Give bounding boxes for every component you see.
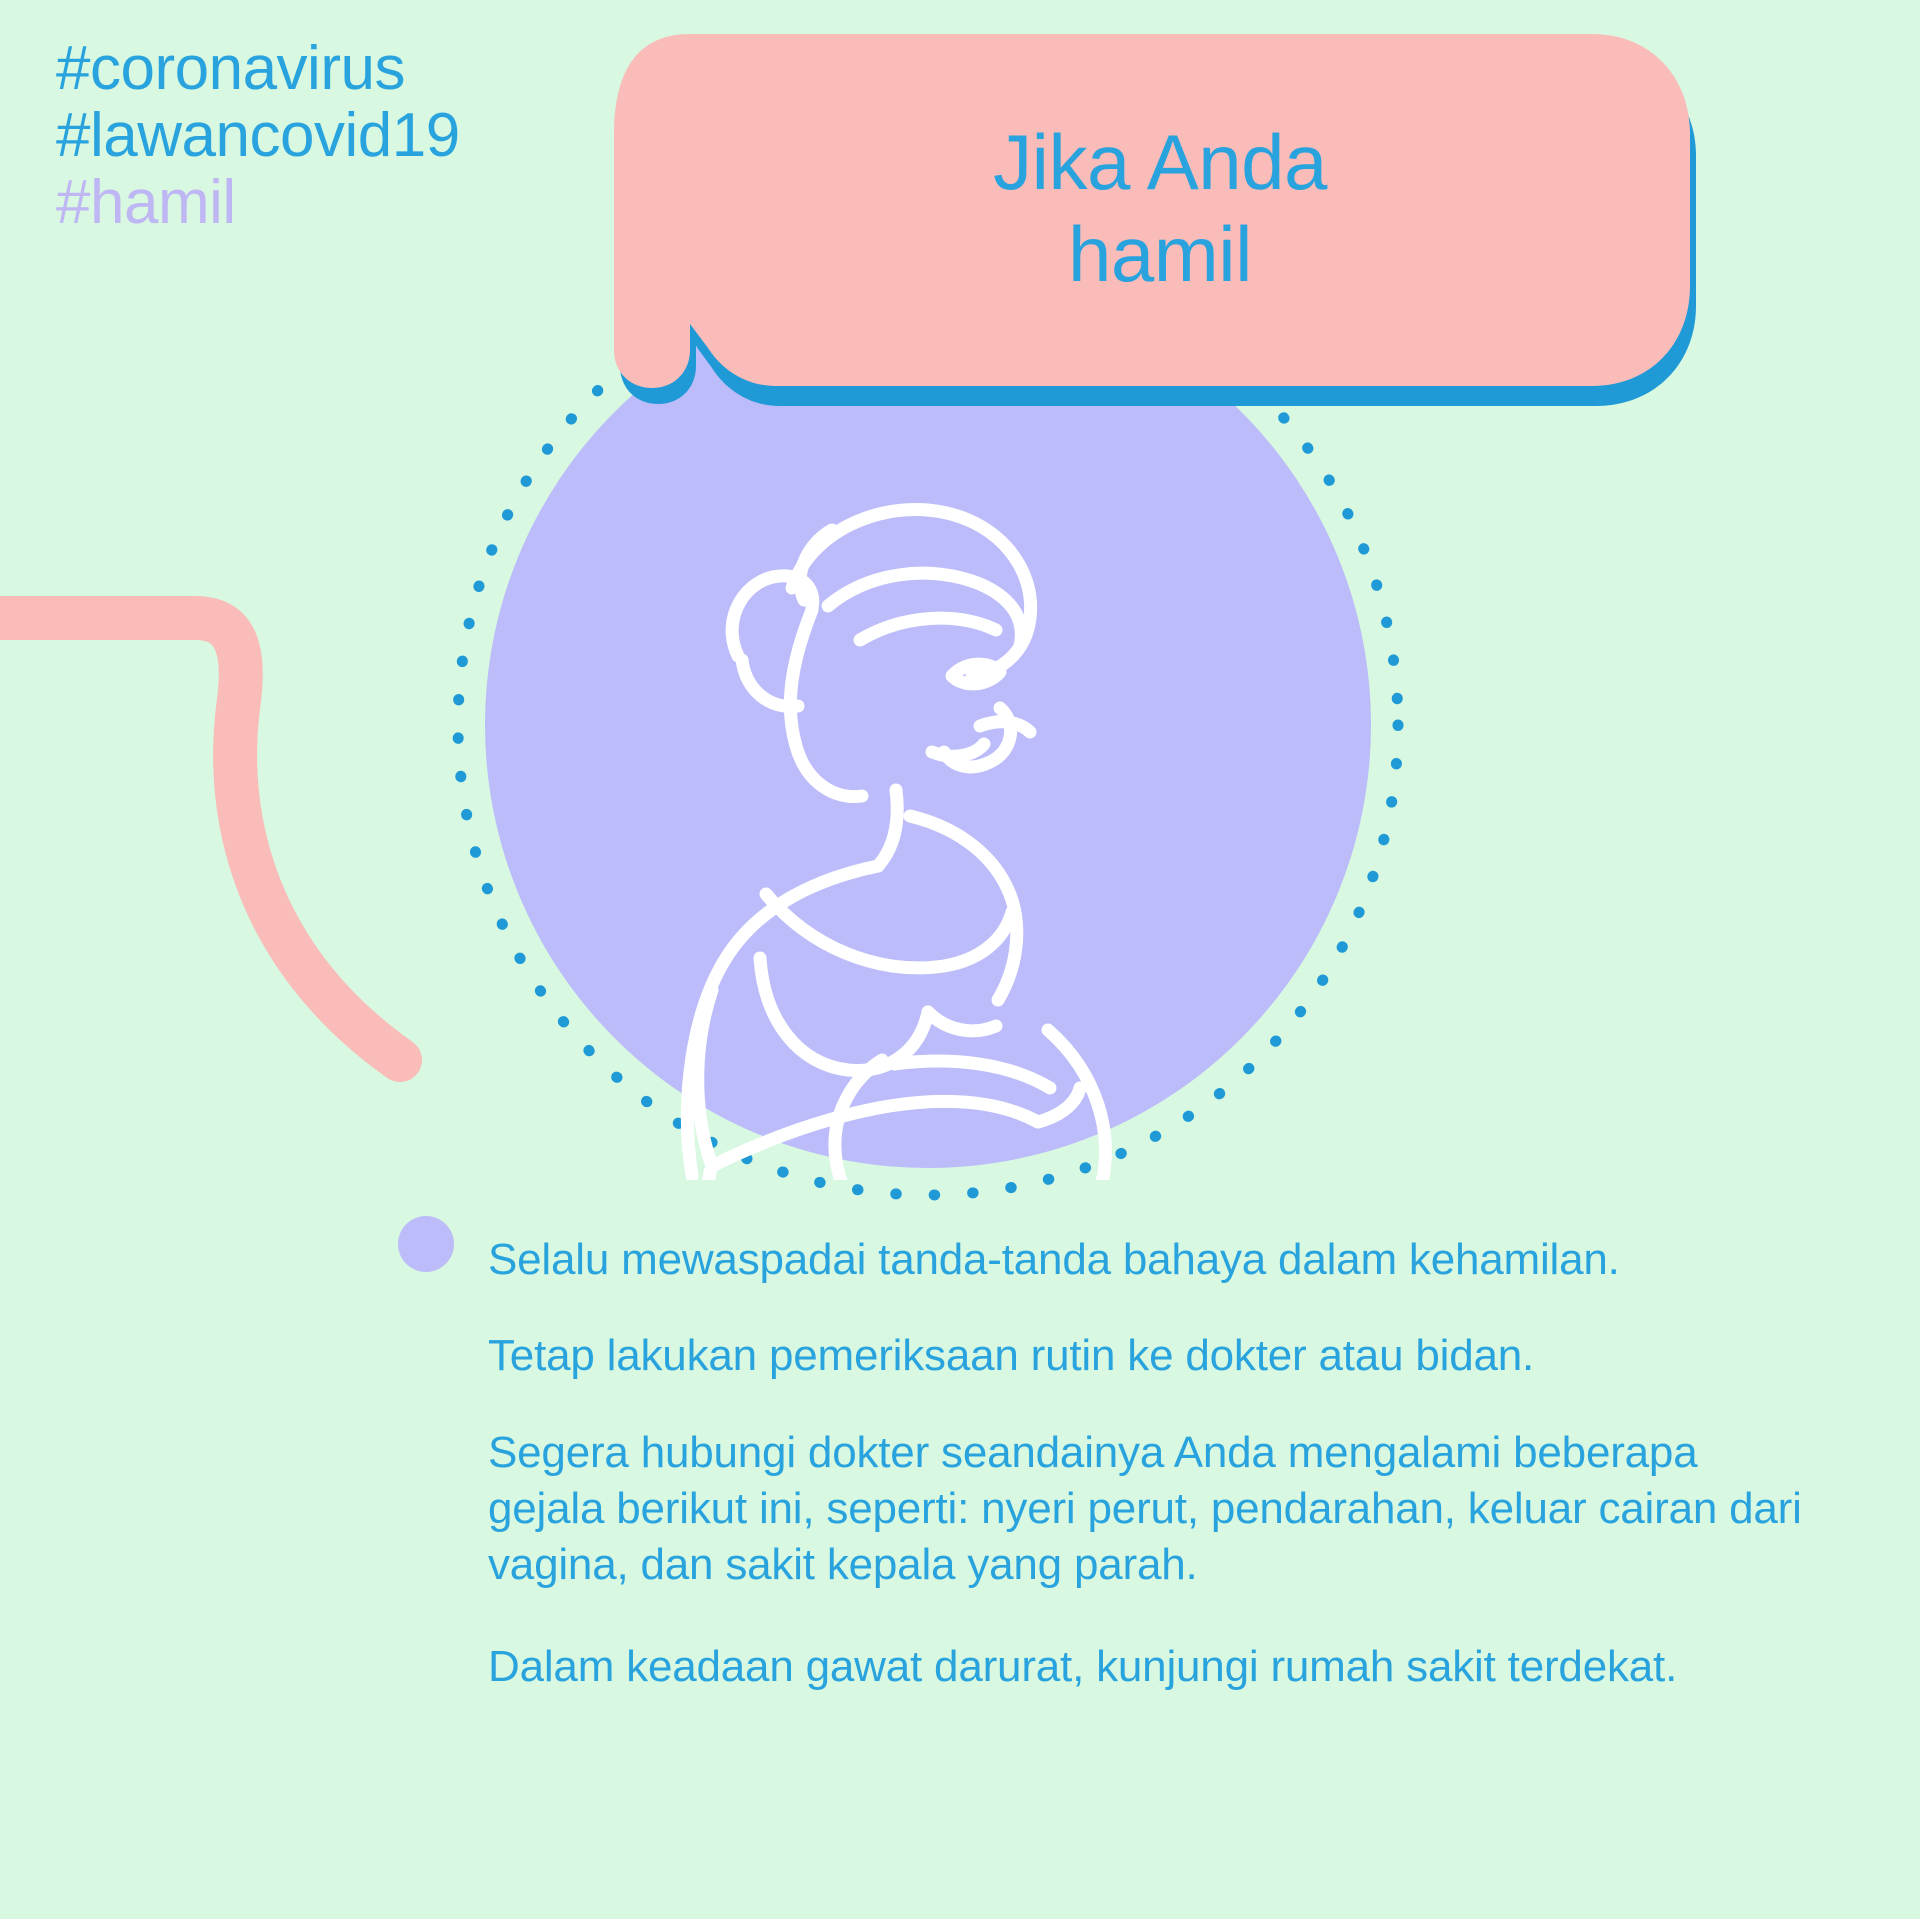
speech-bubble-line-1: Jika Anda <box>730 116 1590 208</box>
advice-paragraph-4: Dalam keadaan gawat darurat, kunjungi ru… <box>488 1634 1818 1701</box>
poster-canvas: #coronavirus #lawancovid19 #hamil <box>0 0 1920 1919</box>
speech-bubble: Jika Anda hamil <box>600 34 1720 454</box>
pink-curve-decoration <box>0 540 520 1160</box>
advice-paragraph-3: Segera hubungi dokter seandainya Anda me… <box>488 1425 1818 1594</box>
speech-bubble-line-2: hamil <box>730 208 1590 300</box>
hashtag-hamil: #hamil <box>56 170 460 237</box>
advice-text-block: Selalu mewaspadai tanda-tanda bahaya dal… <box>488 1232 1818 1700</box>
hashtag-lawancovid19: #lawancovid19 <box>56 103 460 170</box>
hashtag-coronavirus: #coronavirus <box>56 36 460 103</box>
hashtag-block: #coronavirus #lawancovid19 #hamil <box>56 36 460 237</box>
advice-paragraph-2: Tetap lakukan pemeriksaan rutin ke dokte… <box>488 1328 1818 1384</box>
advice-paragraph-1: Selalu mewaspadai tanda-tanda bahaya dal… <box>488 1232 1818 1288</box>
bullet-dot <box>398 1216 454 1272</box>
speech-bubble-text: Jika Anda hamil <box>730 116 1590 300</box>
